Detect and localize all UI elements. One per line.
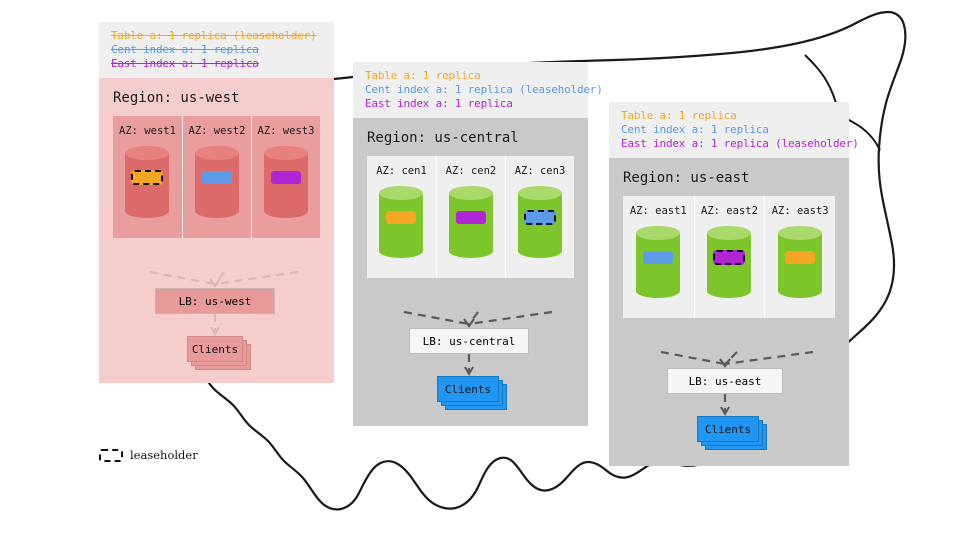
region-body-us-east: Region: us-eastAZ: east1AZ: east2AZ: eas… — [609, 158, 849, 466]
replica-line: Table a: 1 replica — [621, 109, 839, 123]
legend-label: leaseholder — [130, 448, 198, 462]
replica-line: Cent index a: 1 replica — [621, 123, 839, 137]
replica-line: Cent index a: 1 replica (leaseholder) — [365, 83, 578, 97]
region-replica-summary-us-west: Table a: 1 replica (leaseholder)Cent ind… — [99, 22, 334, 78]
replica-line: Table a: 1 replica — [365, 69, 578, 83]
region-body-us-central: Region: us-centralAZ: cen1AZ: cen2AZ: ce… — [353, 118, 588, 426]
replica-line: Cent index a: 1 replica — [111, 43, 324, 57]
replica-line: East index a: 1 replica — [365, 97, 578, 111]
clients-stack-us-central[interactable]: Clients — [437, 376, 509, 410]
legend: leaseholder — [99, 448, 198, 462]
load-balancer-us-east[interactable]: LB: us-east — [667, 368, 783, 394]
diagram-canvas: Table a: 1 replica (leaseholder)Cent ind… — [0, 0, 960, 540]
clients-us-west[interactable]: Clients — [187, 336, 243, 362]
region-body-us-west: Region: us-westAZ: west1AZ: west2AZ: wes… — [99, 78, 334, 383]
clients-us-central[interactable]: Clients — [437, 376, 499, 402]
region-panel-us-central: Table a: 1 replicaCent index a: 1 replic… — [353, 62, 588, 426]
load-balancer-us-central[interactable]: LB: us-central — [409, 328, 529, 354]
clients-stack-us-west[interactable]: Clients — [187, 336, 253, 370]
replica-line: East index a: 1 replica (leaseholder) — [621, 137, 839, 151]
clients-us-east[interactable]: Clients — [697, 416, 759, 442]
load-balancer-us-west[interactable]: LB: us-west — [155, 288, 275, 314]
replica-line: East index a: 1 replica — [111, 57, 324, 71]
region-replica-summary-us-east: Table a: 1 replicaCent index a: 1 replic… — [609, 102, 849, 158]
leaseholder-swatch-icon — [99, 449, 123, 462]
region-replica-summary-us-central: Table a: 1 replicaCent index a: 1 replic… — [353, 62, 588, 118]
region-panel-us-east: Table a: 1 replicaCent index a: 1 replic… — [609, 102, 849, 466]
region-panel-us-west: Table a: 1 replica (leaseholder)Cent ind… — [99, 22, 334, 383]
clients-stack-us-east[interactable]: Clients — [697, 416, 769, 450]
replica-line: Table a: 1 replica (leaseholder) — [111, 29, 324, 43]
